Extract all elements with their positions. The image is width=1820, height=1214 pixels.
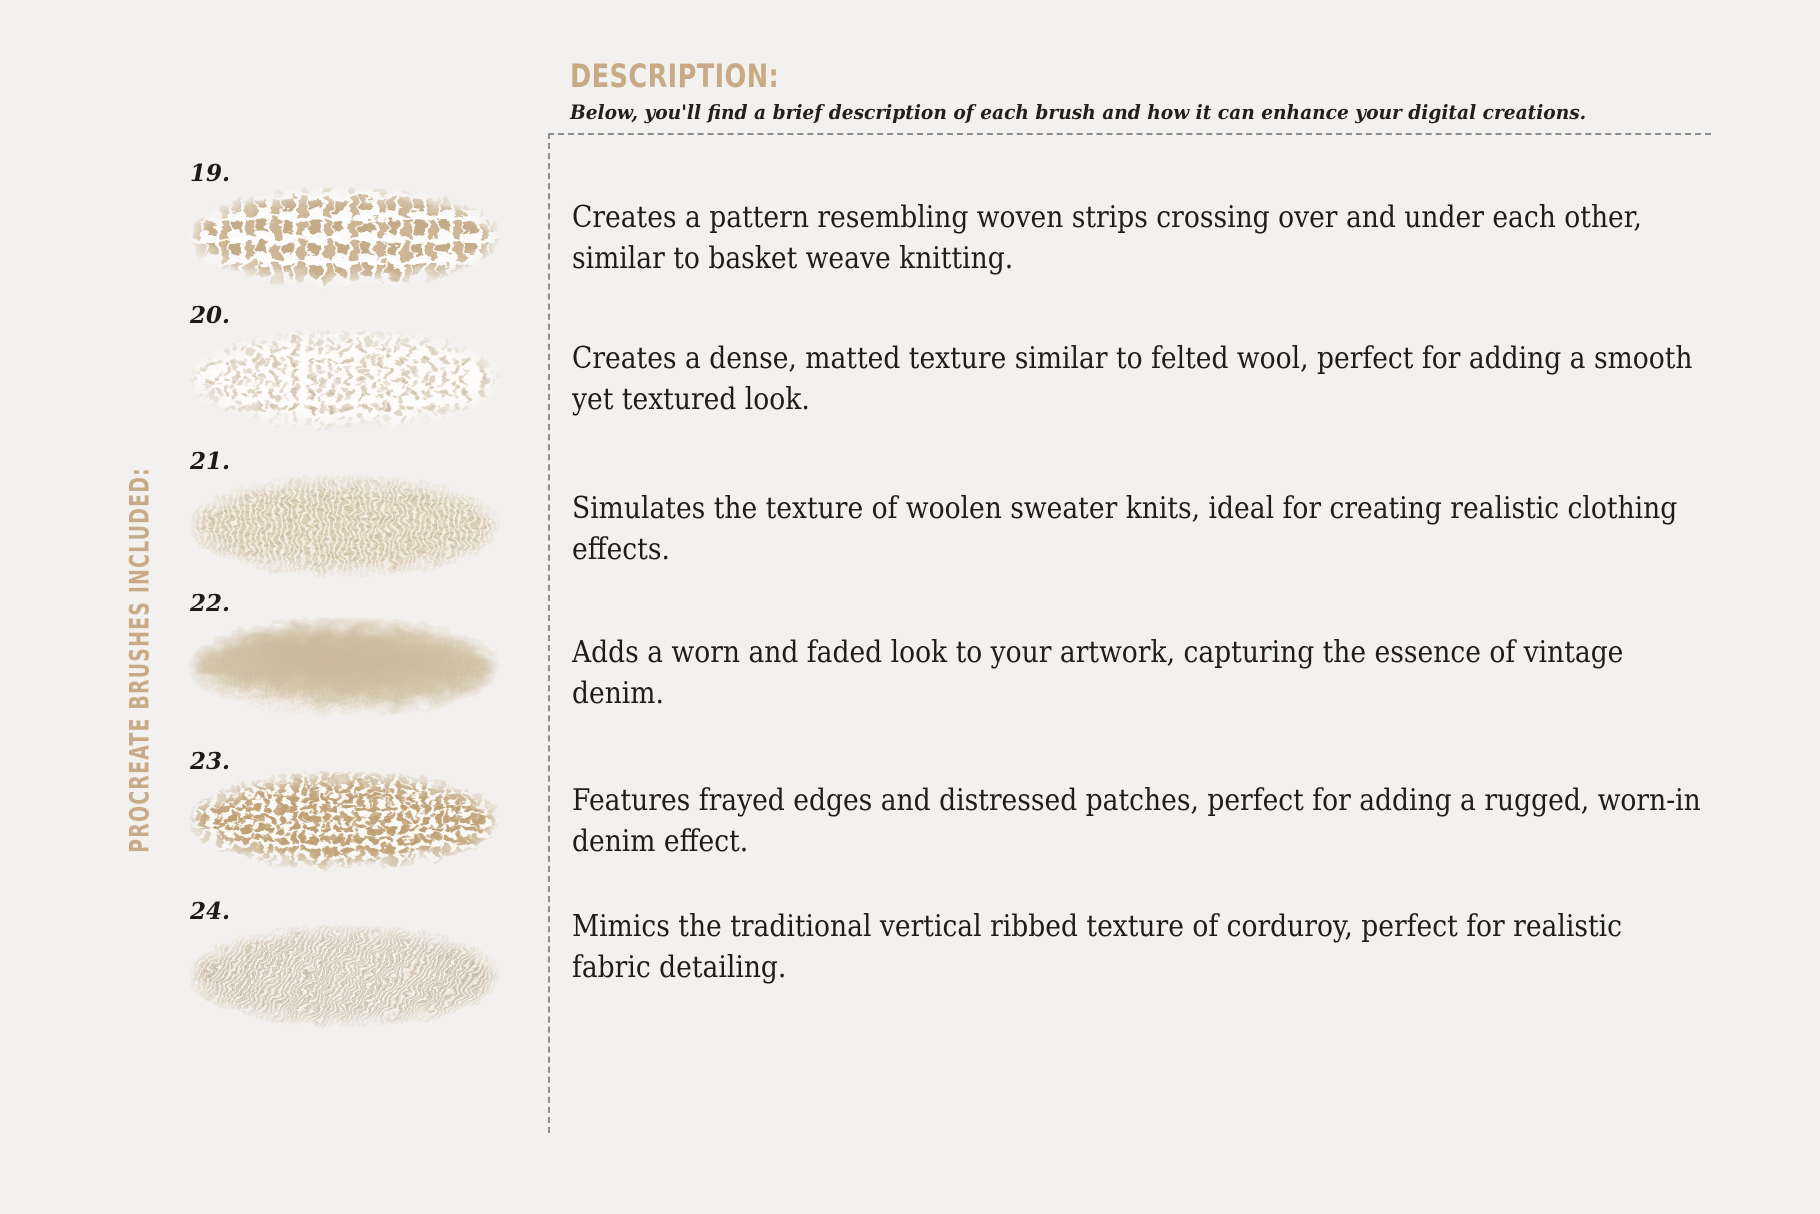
brush-description: Simulates the texture of woolen sweater … xyxy=(572,488,1702,571)
brush-description: Features frayed edges and distressed pat… xyxy=(572,780,1702,863)
brush-description: Creates a pattern resembling woven strip… xyxy=(572,197,1702,280)
brush-number: 21. xyxy=(190,448,230,475)
description-subtitle-text: Below, you'll find a brief description o… xyxy=(570,100,1586,125)
brush-description: Mimics the traditional vertical ribbed t… xyxy=(572,906,1702,989)
brush-number: 24. xyxy=(190,898,230,925)
brush-description-text: Features frayed edges and distressed pat… xyxy=(572,780,1703,863)
swatch-texture xyxy=(190,330,500,428)
brush-number: 22. xyxy=(190,590,230,617)
procreate-brushes-included-title: PROCREATE BRUSHES INCLUDED: xyxy=(125,413,156,908)
brush-description: Creates a dense, matted texture similar … xyxy=(572,338,1702,421)
description-subtitle: Below, you'll find a brief description o… xyxy=(570,100,1710,125)
swatch-texture xyxy=(190,926,500,1026)
brush-description: Adds a worn and faded look to your artwo… xyxy=(572,632,1702,715)
vertical-title-container: PROCREATE BRUSHES INCLUDED: xyxy=(110,380,170,940)
brush-number: 23. xyxy=(190,748,230,775)
brush-number: 19. xyxy=(190,160,230,187)
corduroy-brush-swatch xyxy=(190,926,500,1026)
swatch-texture-overlay-b xyxy=(190,188,500,286)
brush-number: 20. xyxy=(190,302,230,329)
sweater-knit-brush-swatch xyxy=(190,476,500,576)
brush-description-text: Mimics the traditional vertical ribbed t… xyxy=(572,906,1703,989)
brush-description-text: Simulates the texture of woolen sweater … xyxy=(572,488,1703,571)
vintage-denim-brush-swatch xyxy=(190,618,500,716)
distressed-denim-brush-swatch xyxy=(190,772,500,868)
description-heading-text: DESCRIPTION: xyxy=(570,60,779,94)
basket-weave-brush-swatch xyxy=(190,188,500,286)
description-heading: DESCRIPTION: xyxy=(570,60,1710,94)
vertical-title-text: PROCREATE BRUSHES INCLUDED: xyxy=(125,467,156,853)
swatch-texture xyxy=(190,618,500,716)
brush-catalog-page: PROCREATE BRUSHES INCLUDED: DESCRIPTION:… xyxy=(0,0,1820,1214)
brush-description-text: Creates a dense, matted texture similar … xyxy=(572,338,1703,421)
brush-description-text: Adds a worn and faded look to your artwo… xyxy=(572,632,1703,715)
felted-wool-brush-swatch xyxy=(190,330,500,428)
swatch-texture xyxy=(190,188,500,286)
horizontal-dashed-divider xyxy=(548,133,1711,135)
vertical-dashed-divider xyxy=(548,133,550,1133)
description-header: DESCRIPTION: Below, you'll find a brief … xyxy=(570,60,1710,125)
swatch-texture xyxy=(190,772,500,868)
brush-description-text: Creates a pattern resembling woven strip… xyxy=(572,197,1703,280)
swatch-texture xyxy=(190,476,500,576)
